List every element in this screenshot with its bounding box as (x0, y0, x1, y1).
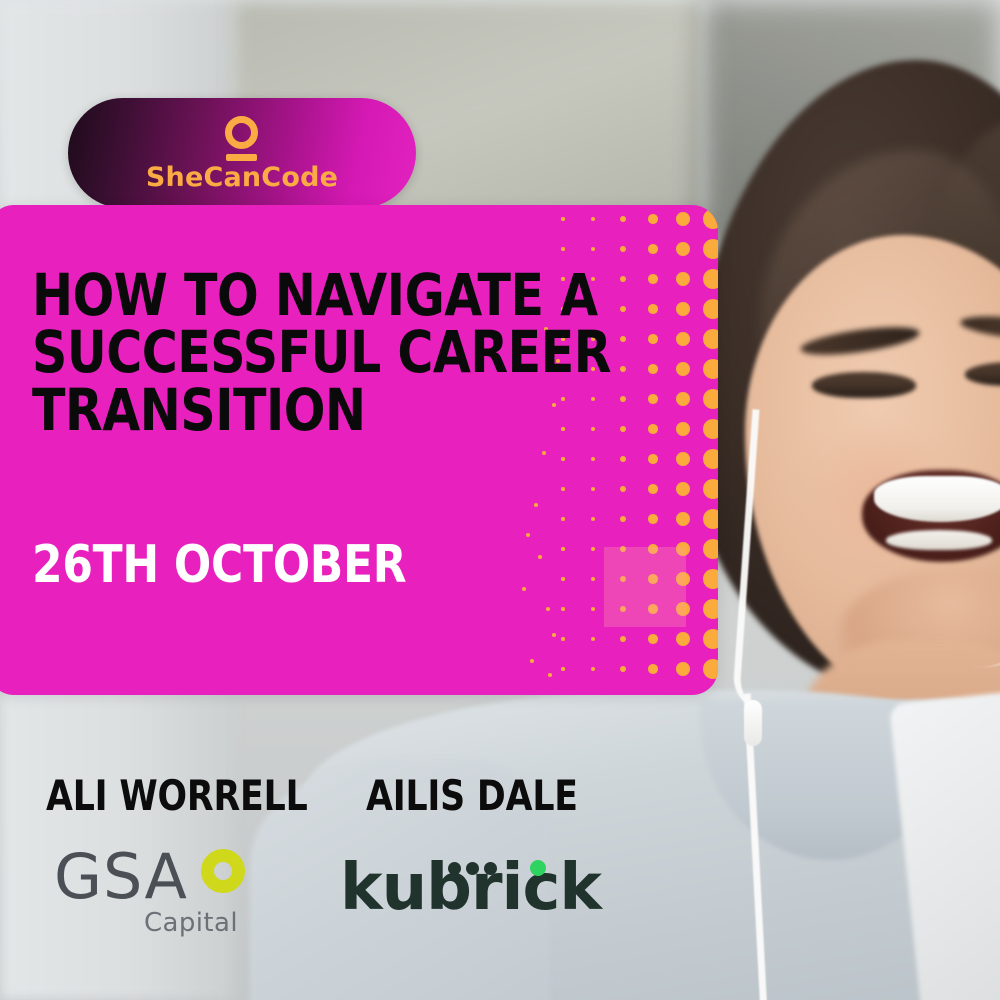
glyph-ring (225, 116, 258, 149)
gsa-capital-logo: GSA Capital (46, 846, 266, 942)
shecancode-glyph-icon (219, 116, 265, 162)
gsa-ring-icon (201, 849, 245, 893)
speaker-name-2: AILIS DALE (366, 775, 578, 817)
kubrick-dot-1-icon (448, 862, 461, 875)
glyph-bar (226, 154, 257, 161)
speaker-list: ALI WORRELL AILIS DALE (46, 775, 606, 823)
headline-line-3: TRANSITION (32, 382, 577, 439)
headline-line-1: HOW TO NAVIGATE A (32, 267, 577, 324)
shecancode-wordmark: SheCanCode (146, 164, 338, 191)
kubrick-dot-2-icon (466, 862, 479, 875)
kubrick-green-dot-icon (530, 860, 546, 876)
photo-eye-left (812, 372, 916, 398)
headline-line-2: SUCCESSFUL CAREER (32, 324, 577, 381)
kubrick-logo: kubrick (340, 856, 580, 936)
panel-highlight-patch (604, 547, 686, 627)
kubrick-dot-3-icon (484, 862, 497, 875)
shecancode-logo: SheCanCode (68, 98, 416, 208)
event-date: 26TH OCTOBER (32, 539, 406, 591)
event-promo-poster: SheCanCode HOW TO NAVIGATE A SUCCESSFUL … (0, 0, 1000, 1000)
gsa-wordmark: GSA (54, 846, 188, 908)
photo-earphone-splitter (744, 700, 762, 746)
photo-earphone-cable-lower (744, 687, 898, 1000)
page-title: HOW TO NAVIGATE A SUCCESSFUL CAREER TRAN… (32, 267, 577, 439)
gsa-subtitle: Capital (144, 908, 238, 938)
speaker-name-1: ALI WORRELL (46, 775, 308, 817)
headline-panel: HOW TO NAVIGATE A SUCCESSFUL CAREER TRAN… (0, 205, 718, 695)
